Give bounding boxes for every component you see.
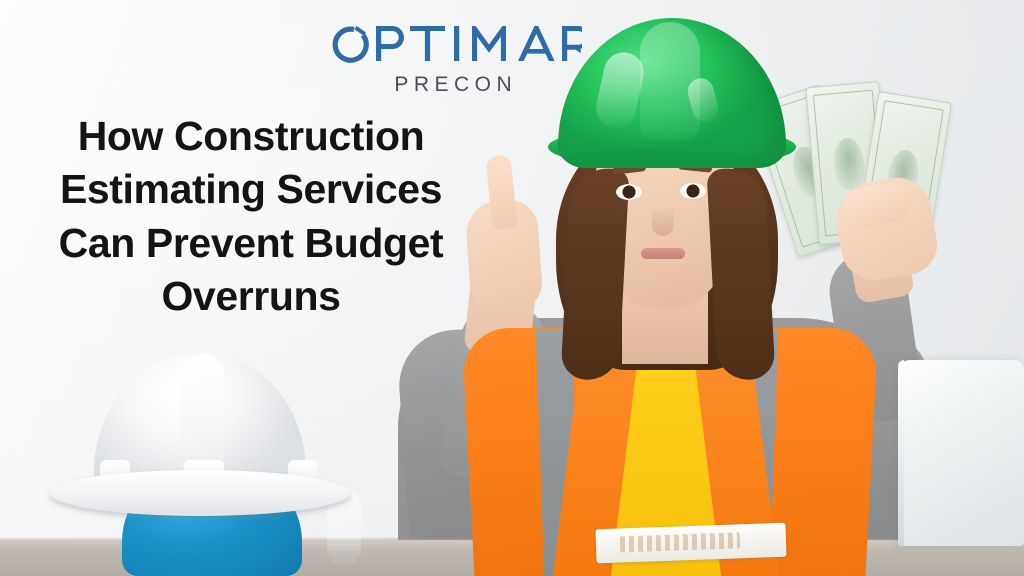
headline-line-4: Overruns — [16, 270, 486, 323]
headline-line-1: How Construction — [16, 110, 486, 163]
eye-right — [680, 183, 706, 199]
headline-line-2: Estimating Services — [16, 163, 486, 216]
eye-left — [616, 184, 642, 200]
laptop-edge — [898, 360, 904, 546]
nose — [652, 206, 674, 236]
logo-subtitle: PRECON — [318, 73, 588, 97]
white-hard-hat-prop — [42, 344, 356, 576]
headline-line-3: Can Prevent Budget — [16, 217, 486, 270]
mouth — [641, 248, 685, 259]
page-title: How Construction Estimating Services Can… — [16, 110, 486, 323]
hair-strand-left — [560, 167, 629, 382]
laptop — [898, 360, 1024, 546]
blog-banner: PRECON How Construction Estimating Servi… — [0, 0, 1024, 576]
hair-strand-right — [706, 167, 775, 382]
optimar-wordmark — [318, 22, 588, 66]
desk-documents — [595, 523, 786, 564]
white-hard-hat-brim — [50, 470, 350, 516]
brand-logo[interactable]: PRECON — [318, 22, 588, 97]
